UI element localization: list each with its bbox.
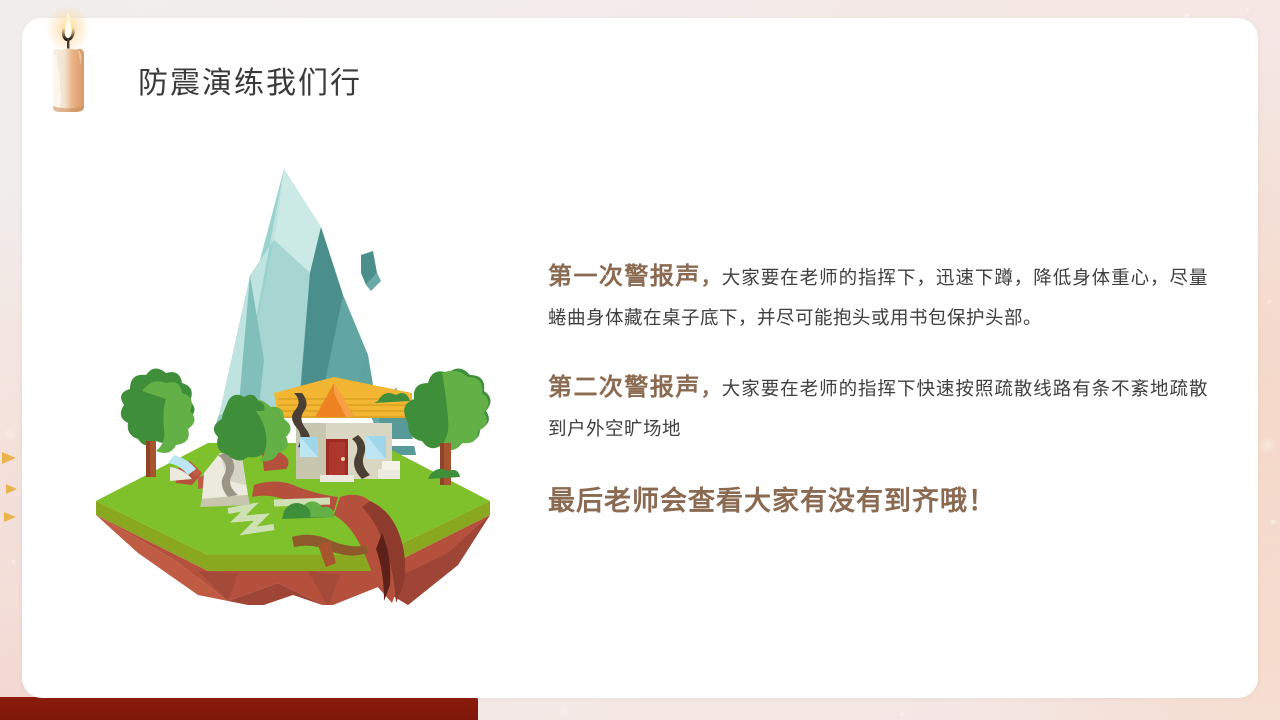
gold-triangle-icon <box>2 452 16 464</box>
gold-triangle-icon <box>4 512 16 522</box>
candle-icon <box>34 6 102 116</box>
warning-block-1: 第一次警报声，大家要在老师的指挥下，迅速下蹲，降低身体重心，尽量蜷曲身体藏在桌子… <box>548 257 1208 338</box>
slide-header: 防震演练我们行 <box>34 6 634 116</box>
paragraph-2: 第二次警报声，大家要在老师的指挥下快速按照疏散线路有条不紊地疏散到户外空旷场地 <box>548 368 1208 449</box>
lead-label-1: 第一次警报声 <box>548 263 701 290</box>
lead-comma-2: ， <box>701 378 722 400</box>
page-title: 防震演练我们行 <box>138 58 362 102</box>
earthquake-island-illustration <box>78 155 508 605</box>
closing-statement: 最后老师会查看大家有没有到齐哦！ <box>548 479 1208 518</box>
bottom-accent-bar <box>0 697 478 720</box>
content-body: 第一次警报声，大家要在老师的指挥下，迅速下蹲，降低身体重心，尽量蜷曲身体藏在桌子… <box>548 238 1208 518</box>
paragraph-1: 第一次警报声，大家要在老师的指挥下，迅速下蹲，降低身体重心，尽量蜷曲身体藏在桌子… <box>548 257 1208 338</box>
lead-label-2: 第二次警报声 <box>548 374 701 401</box>
warning-block-2: 第二次警报声，大家要在老师的指挥下快速按照疏散线路有条不紊地疏散到户外空旷场地 <box>548 368 1208 449</box>
lead-comma-1: ， <box>701 267 722 289</box>
slide-root: 防震演练我们行 <box>0 0 1280 720</box>
gold-triangle-icon <box>6 484 17 494</box>
